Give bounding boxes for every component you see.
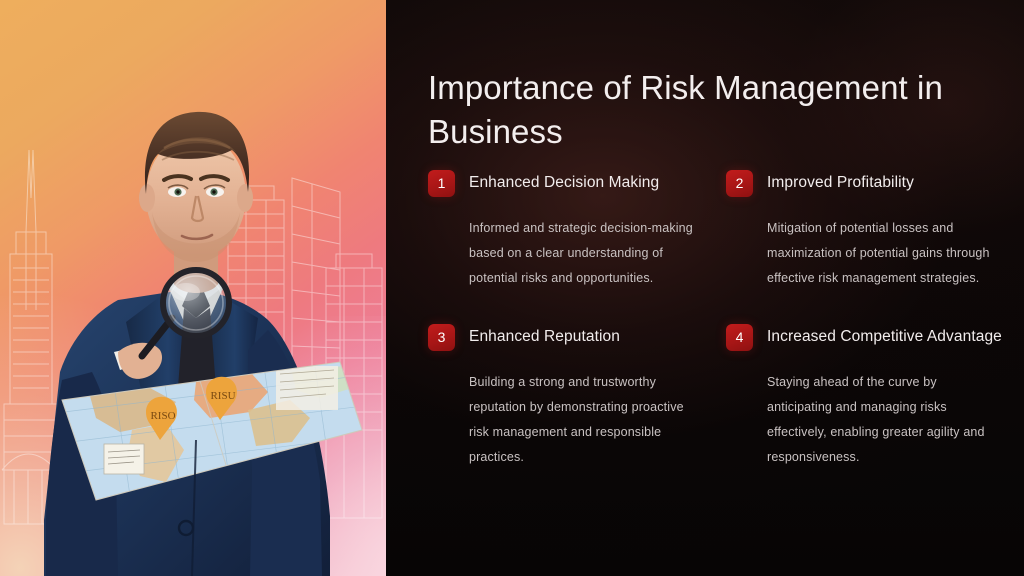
benefit-body-2: Mitigation of potential losses and maxim… [767, 216, 1005, 291]
benefit-body-1: Informed and strategic decision-making b… [469, 216, 707, 291]
benefit-body-4: Staying ahead of the curve by anticipati… [767, 370, 1005, 470]
benefit-item-4: 4 Increased Competitive Advantage Stayin… [726, 324, 1008, 483]
benefit-number-badge-1: 1 [428, 170, 455, 197]
benefit-item-1: 1 Enhanced Decision Making Informed and … [428, 170, 710, 304]
benefit-item-3: 3 Enhanced Reputation Building a strong … [428, 324, 710, 483]
hero-image-panel: RISO RISU [0, 0, 386, 576]
benefit-number-badge-3: 3 [428, 324, 455, 351]
businessman-illustration: RISO RISU [0, 0, 386, 576]
page-title: Importance of Risk Management in Busines… [428, 66, 998, 154]
svg-text:RISU: RISU [210, 390, 235, 402]
benefits-grid: 1 Enhanced Decision Making Informed and … [428, 170, 1008, 482]
benefit-header-4: 4 Increased Competitive Advantage [726, 324, 1008, 354]
benefit-title-3: Enhanced Reputation [469, 324, 620, 347]
benefit-header-1: 1 Enhanced Decision Making [428, 170, 710, 200]
benefit-body-3: Building a strong and trustworthy reputa… [469, 370, 707, 470]
benefit-title-2: Improved Profitability [767, 170, 914, 193]
slide: RISO RISU Importance of Risk Management … [0, 0, 1024, 576]
benefit-header-2: 2 Improved Profitability [726, 170, 1008, 200]
benefit-header-3: 3 Enhanced Reputation [428, 324, 710, 354]
svg-text:RISO: RISO [150, 410, 175, 422]
benefit-item-2: 2 Improved Profitability Mitigation of p… [726, 170, 1008, 304]
benefit-title-4: Increased Competitive Advantage [767, 324, 1002, 347]
content-panel: Importance of Risk Management in Busines… [386, 0, 1024, 576]
benefit-number-badge-4: 4 [726, 324, 753, 351]
benefit-title-1: Enhanced Decision Making [469, 170, 659, 193]
benefit-number-badge-2: 2 [726, 170, 753, 197]
